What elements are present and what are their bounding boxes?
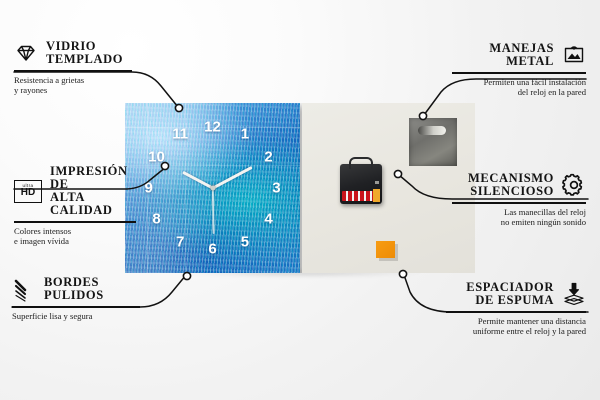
- clock-number-3: 3: [272, 181, 280, 196]
- callout-title: VIDRIO TEMPLADO: [46, 40, 123, 66]
- clock-back: [302, 103, 475, 273]
- clock-number-12: 12: [204, 119, 221, 134]
- callout-mecanismo-silencioso[interactable]: MECANISMO SILENCIOSO Las manecillas del …: [452, 172, 586, 227]
- clock-number-10: 10: [148, 150, 165, 165]
- clock-number-8: 8: [152, 211, 160, 226]
- gear-icon: [562, 173, 586, 197]
- mechanism-hanger-loop: [349, 157, 373, 169]
- product-photo: 12 1 2 3 4 5 6 7 8 9 10 11: [125, 103, 475, 273]
- diagonal-edges-icon: [12, 277, 36, 301]
- clock-second-hand: [212, 188, 214, 234]
- hanger-slot: [418, 126, 446, 135]
- callout-title: ESPACIADOR DE ESPUMA: [466, 281, 554, 307]
- mechanism-label: [342, 191, 381, 201]
- callout-rule: [452, 202, 586, 204]
- picture-hanger-icon: [562, 43, 586, 67]
- callout-rule: [12, 306, 140, 308]
- foam-spacer-icon: [562, 282, 586, 306]
- callout-rule: [14, 221, 136, 223]
- callout-manejas-metal[interactable]: MANEJAS METAL Permiten una fácil instala…: [452, 42, 586, 97]
- clock-front: 12 1 2 3 4 5 6 7 8 9 10 11: [125, 103, 300, 273]
- ultra-hd-icon: ultra HD: [14, 180, 42, 203]
- product-shadow: [130, 271, 475, 285]
- clock-number-7: 7: [176, 234, 184, 249]
- callout-bordes-pulidos[interactable]: BORDES PULIDOS Superficie lisa y segura: [12, 276, 140, 321]
- callout-description: Colores intensos e imagen vívida: [14, 226, 136, 247]
- infographic-canvas: 12 1 2 3 4 5 6 7 8 9 10 11: [0, 0, 600, 400]
- clock-number-1: 1: [241, 127, 249, 142]
- clock-number-5: 5: [241, 234, 249, 249]
- callout-title: MANEJAS METAL: [489, 42, 554, 68]
- clock-number-11: 11: [172, 127, 188, 142]
- clock-number-4: 4: [264, 211, 272, 226]
- callout-description: Resistencia a grietas y rayones: [14, 75, 132, 96]
- ultra-hd-icon-main-text: HD: [21, 188, 35, 198]
- callout-description: Permiten una fácil instalación del reloj…: [452, 77, 586, 98]
- mechanism-detail-dot: [375, 181, 379, 184]
- callout-description: Permite mantener una distancia uniforme …: [446, 316, 586, 337]
- clock-number-6: 6: [208, 242, 216, 257]
- callout-title: BORDES PULIDOS: [44, 276, 104, 302]
- callout-vidrio-templado[interactable]: VIDRIO TEMPLADO Resistencia a grietas y …: [14, 40, 132, 95]
- clock-mechanism: [340, 164, 382, 204]
- callout-espaciador-de-espuma[interactable]: ESPACIADOR DE ESPUMA Permite mantener un…: [446, 281, 586, 336]
- callout-title: MECANISMO SILENCIOSO: [468, 172, 554, 198]
- callout-description: Las manecillas del reloj no emiten ningú…: [452, 207, 586, 228]
- callout-rule: [14, 70, 132, 72]
- foam-spacer: [376, 241, 395, 258]
- callout-impresion-alta-calidad[interactable]: ultra HD IMPRESIÓN DE ALTA CALIDAD Color…: [14, 165, 136, 246]
- callout-title: IMPRESIÓN DE ALTA CALIDAD: [50, 165, 136, 217]
- clock-center-hub: [210, 186, 215, 191]
- callout-rule: [446, 311, 586, 313]
- diamond-icon: [14, 41, 38, 65]
- callout-description: Superficie lisa y segura: [12, 311, 140, 321]
- callout-rule: [452, 72, 586, 74]
- clock-number-2: 2: [264, 150, 272, 165]
- metal-hanger-plate: [409, 118, 457, 166]
- clock-number-9: 9: [144, 181, 152, 196]
